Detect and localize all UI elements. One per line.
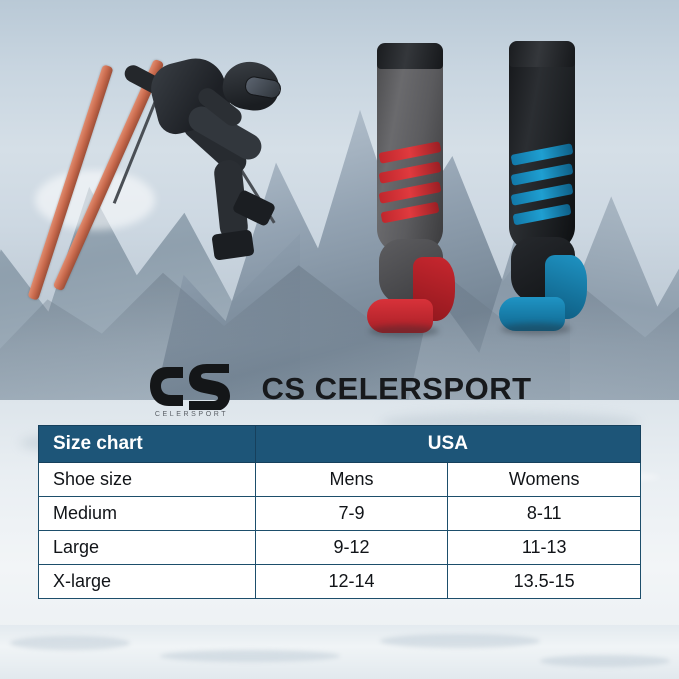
table-row: Medium 7-9 8-11	[39, 497, 641, 531]
sock-sole-shadow-red	[369, 325, 439, 337]
size-chart: Size chart USA Shoe size Mens Womens Med…	[38, 425, 641, 599]
sock-cuff-red	[377, 43, 443, 69]
size-chart-body: Shoe size Mens Womens Medium 7-9 8-11 La…	[39, 463, 641, 599]
table-row: Large 9-12 11-13	[39, 531, 641, 565]
brand-name: CS CELERSPORT	[261, 371, 531, 407]
skier-boot-1	[211, 229, 254, 260]
sock-foot-blue	[499, 237, 591, 333]
table-header-row: Size chart USA	[39, 426, 641, 463]
subheader-mens: Mens	[255, 463, 448, 497]
row-xlarge-mens: 12-14	[255, 565, 448, 599]
subheader-womens: Womens	[448, 463, 641, 497]
subheader-shoe-size: Shoe size	[39, 463, 256, 497]
snow-texture-2	[160, 650, 340, 662]
snow-texture-3	[380, 634, 540, 648]
row-large-womens: 11-13	[448, 531, 641, 565]
cs-logo-icon: CELERSPORT	[147, 364, 235, 414]
table-subheader-row: Shoe size Mens Womens	[39, 463, 641, 497]
size-chart-head: Size chart USA	[39, 426, 641, 463]
header-region-usa: USA	[255, 426, 640, 463]
snow-texture-4	[540, 655, 670, 667]
sock-foot-red	[367, 239, 459, 335]
ski-sock-blue	[495, 41, 591, 341]
skier-figure	[45, 20, 305, 340]
size-chart-table: Size chart USA Shoe size Mens Womens Med…	[38, 425, 641, 599]
brand-row: CELERSPORT CS CELERSPORT	[0, 355, 679, 423]
cs-logo-subtext: CELERSPORT	[155, 411, 228, 418]
row-medium-womens: 8-11	[448, 497, 641, 531]
ski-socks-pair	[355, 35, 625, 355]
header-size-chart: Size chart	[39, 426, 256, 463]
sock-sole-shadow-blue	[501, 323, 571, 335]
ski-sock-red	[363, 43, 459, 343]
snow-texture-1	[10, 636, 130, 650]
row-large-mens: 9-12	[255, 531, 448, 565]
table-row: X-large 12-14 13.5-15	[39, 565, 641, 599]
row-xlarge-size: X-large	[39, 565, 256, 599]
row-xlarge-womens: 13.5-15	[448, 565, 641, 599]
sock-cuff-blue	[509, 41, 575, 67]
product-image-canvas: CELERSPORT CS CELERSPORT Size chart USA …	[0, 0, 679, 679]
row-medium-mens: 7-9	[255, 497, 448, 531]
row-medium-size: Medium	[39, 497, 256, 531]
row-large-size: Large	[39, 531, 256, 565]
foreground-snow	[0, 625, 679, 679]
